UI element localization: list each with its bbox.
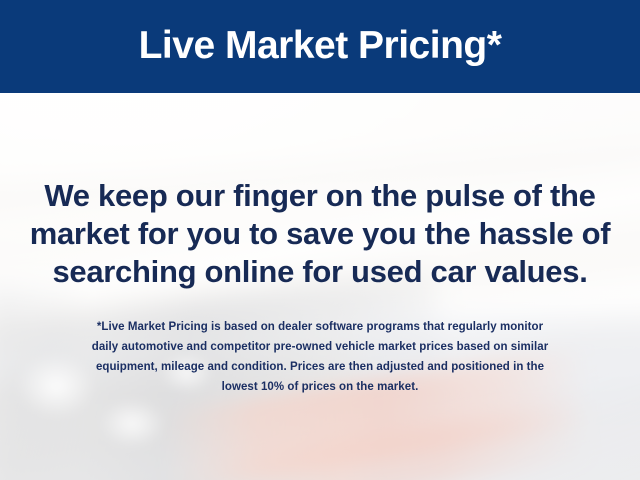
disclaimer-line-2: daily automotive and competitor pre-owne… bbox=[26, 337, 614, 357]
disclaimer-line-4: lowest 10% of prices on the market. bbox=[26, 377, 614, 397]
disclaimer-line-3: equipment, mileage and condition. Prices… bbox=[26, 357, 614, 377]
disclaimer-line-1: *Live Market Pricing is based on dealer … bbox=[26, 317, 614, 337]
live-market-pricing-slide: Live Market Pricing* We keep our finger … bbox=[0, 0, 640, 480]
headline-line-2: market for you to save you the hassle of bbox=[22, 215, 618, 253]
header-banner: Live Market Pricing* bbox=[0, 0, 640, 93]
headline-line-3: searching online for used car values. bbox=[22, 253, 618, 291]
headline: We keep our finger on the pulse of the m… bbox=[22, 177, 618, 291]
banner-title: Live Market Pricing* bbox=[139, 26, 502, 68]
disclaimer-text: *Live Market Pricing is based on dealer … bbox=[26, 317, 614, 397]
headline-line-1: We keep our finger on the pulse of the bbox=[22, 177, 618, 215]
content-area: We keep our finger on the pulse of the m… bbox=[0, 93, 640, 480]
